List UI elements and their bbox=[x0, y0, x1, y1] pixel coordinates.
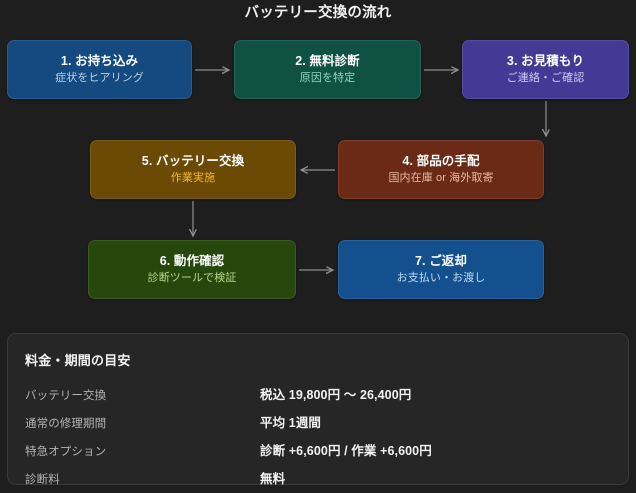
flow-node-2-free-diagnosis[interactable]: 2. 無料診断 原因を特定 bbox=[234, 40, 421, 99]
flow-node-title: 5. バッテリー交換 bbox=[142, 154, 244, 168]
info-label: 特急オプション bbox=[25, 443, 260, 459]
pricing-duration-panel: 料金・期間の目安 バッテリー交換 税込 19,800円 〜 26,400円 通常… bbox=[7, 333, 629, 485]
info-label: 診断料 bbox=[25, 471, 260, 487]
flow-node-subtitle: 診断ツールで検証 bbox=[148, 272, 237, 285]
info-value: 無料 bbox=[260, 468, 285, 487]
flow-node-4-parts-procurement[interactable]: 4. 部品の手配 国内在庫 or 海外取寄 bbox=[338, 140, 544, 199]
flow-node-5-battery-replacement[interactable]: 5. バッテリー交換 作業実施 bbox=[90, 140, 296, 199]
flow-node-subtitle: 国内在庫 or 海外取寄 bbox=[388, 172, 493, 185]
flow-node-title: 2. 無料診断 bbox=[295, 54, 360, 68]
flow-node-title: 4. 部品の手配 bbox=[402, 154, 479, 168]
info-row-express-option: 特急オプション 診断 +6,600円 / 作業 +6,600円 bbox=[25, 440, 611, 459]
flow-node-7-return[interactable]: 7. ご返却 お支払い・お渡し bbox=[338, 240, 544, 299]
flow-node-title: 1. お持ち込み bbox=[61, 54, 138, 68]
panel-title: 料金・期間の目安 bbox=[25, 350, 611, 369]
flow-node-title: 7. ご返却 bbox=[415, 254, 467, 268]
info-value: 税込 19,800円 〜 26,400円 bbox=[260, 384, 411, 403]
info-value: 平均 1週間 bbox=[260, 412, 321, 431]
flow-node-subtitle: ご連絡・ご確認 bbox=[507, 72, 585, 85]
flow-node-subtitle: お支払い・お渡し bbox=[397, 272, 486, 285]
info-label: 通常の修理期間 bbox=[25, 415, 260, 431]
info-label: バッテリー交換 bbox=[25, 387, 260, 403]
flow-node-title: 3. お見積もり bbox=[507, 54, 584, 68]
flow-node-title: 6. 動作確認 bbox=[160, 254, 225, 268]
flow-node-subtitle: 症状をヒアリング bbox=[55, 72, 144, 85]
info-value: 診断 +6,600円 / 作業 +6,600円 bbox=[260, 440, 432, 459]
flow-node-6-operation-check[interactable]: 6. 動作確認 診断ツールで検証 bbox=[88, 240, 296, 299]
flow-node-3-quotation[interactable]: 3. お見積もり ご連絡・ご確認 bbox=[462, 40, 629, 99]
flow-node-subtitle: 原因を特定 bbox=[300, 72, 356, 85]
flowchart: 1. お持ち込み 症状をヒアリング 2. 無料診断 原因を特定 3. お見積もり… bbox=[0, 0, 636, 325]
flow-node-1-intake[interactable]: 1. お持ち込み 症状をヒアリング bbox=[7, 40, 192, 99]
info-row-standard-duration: 通常の修理期間 平均 1週間 bbox=[25, 412, 611, 431]
info-row-diagnosis-fee: 診断料 無料 bbox=[25, 468, 611, 487]
info-row-battery-replacement: バッテリー交換 税込 19,800円 〜 26,400円 bbox=[25, 384, 611, 403]
flow-node-subtitle: 作業実施 bbox=[171, 172, 215, 185]
